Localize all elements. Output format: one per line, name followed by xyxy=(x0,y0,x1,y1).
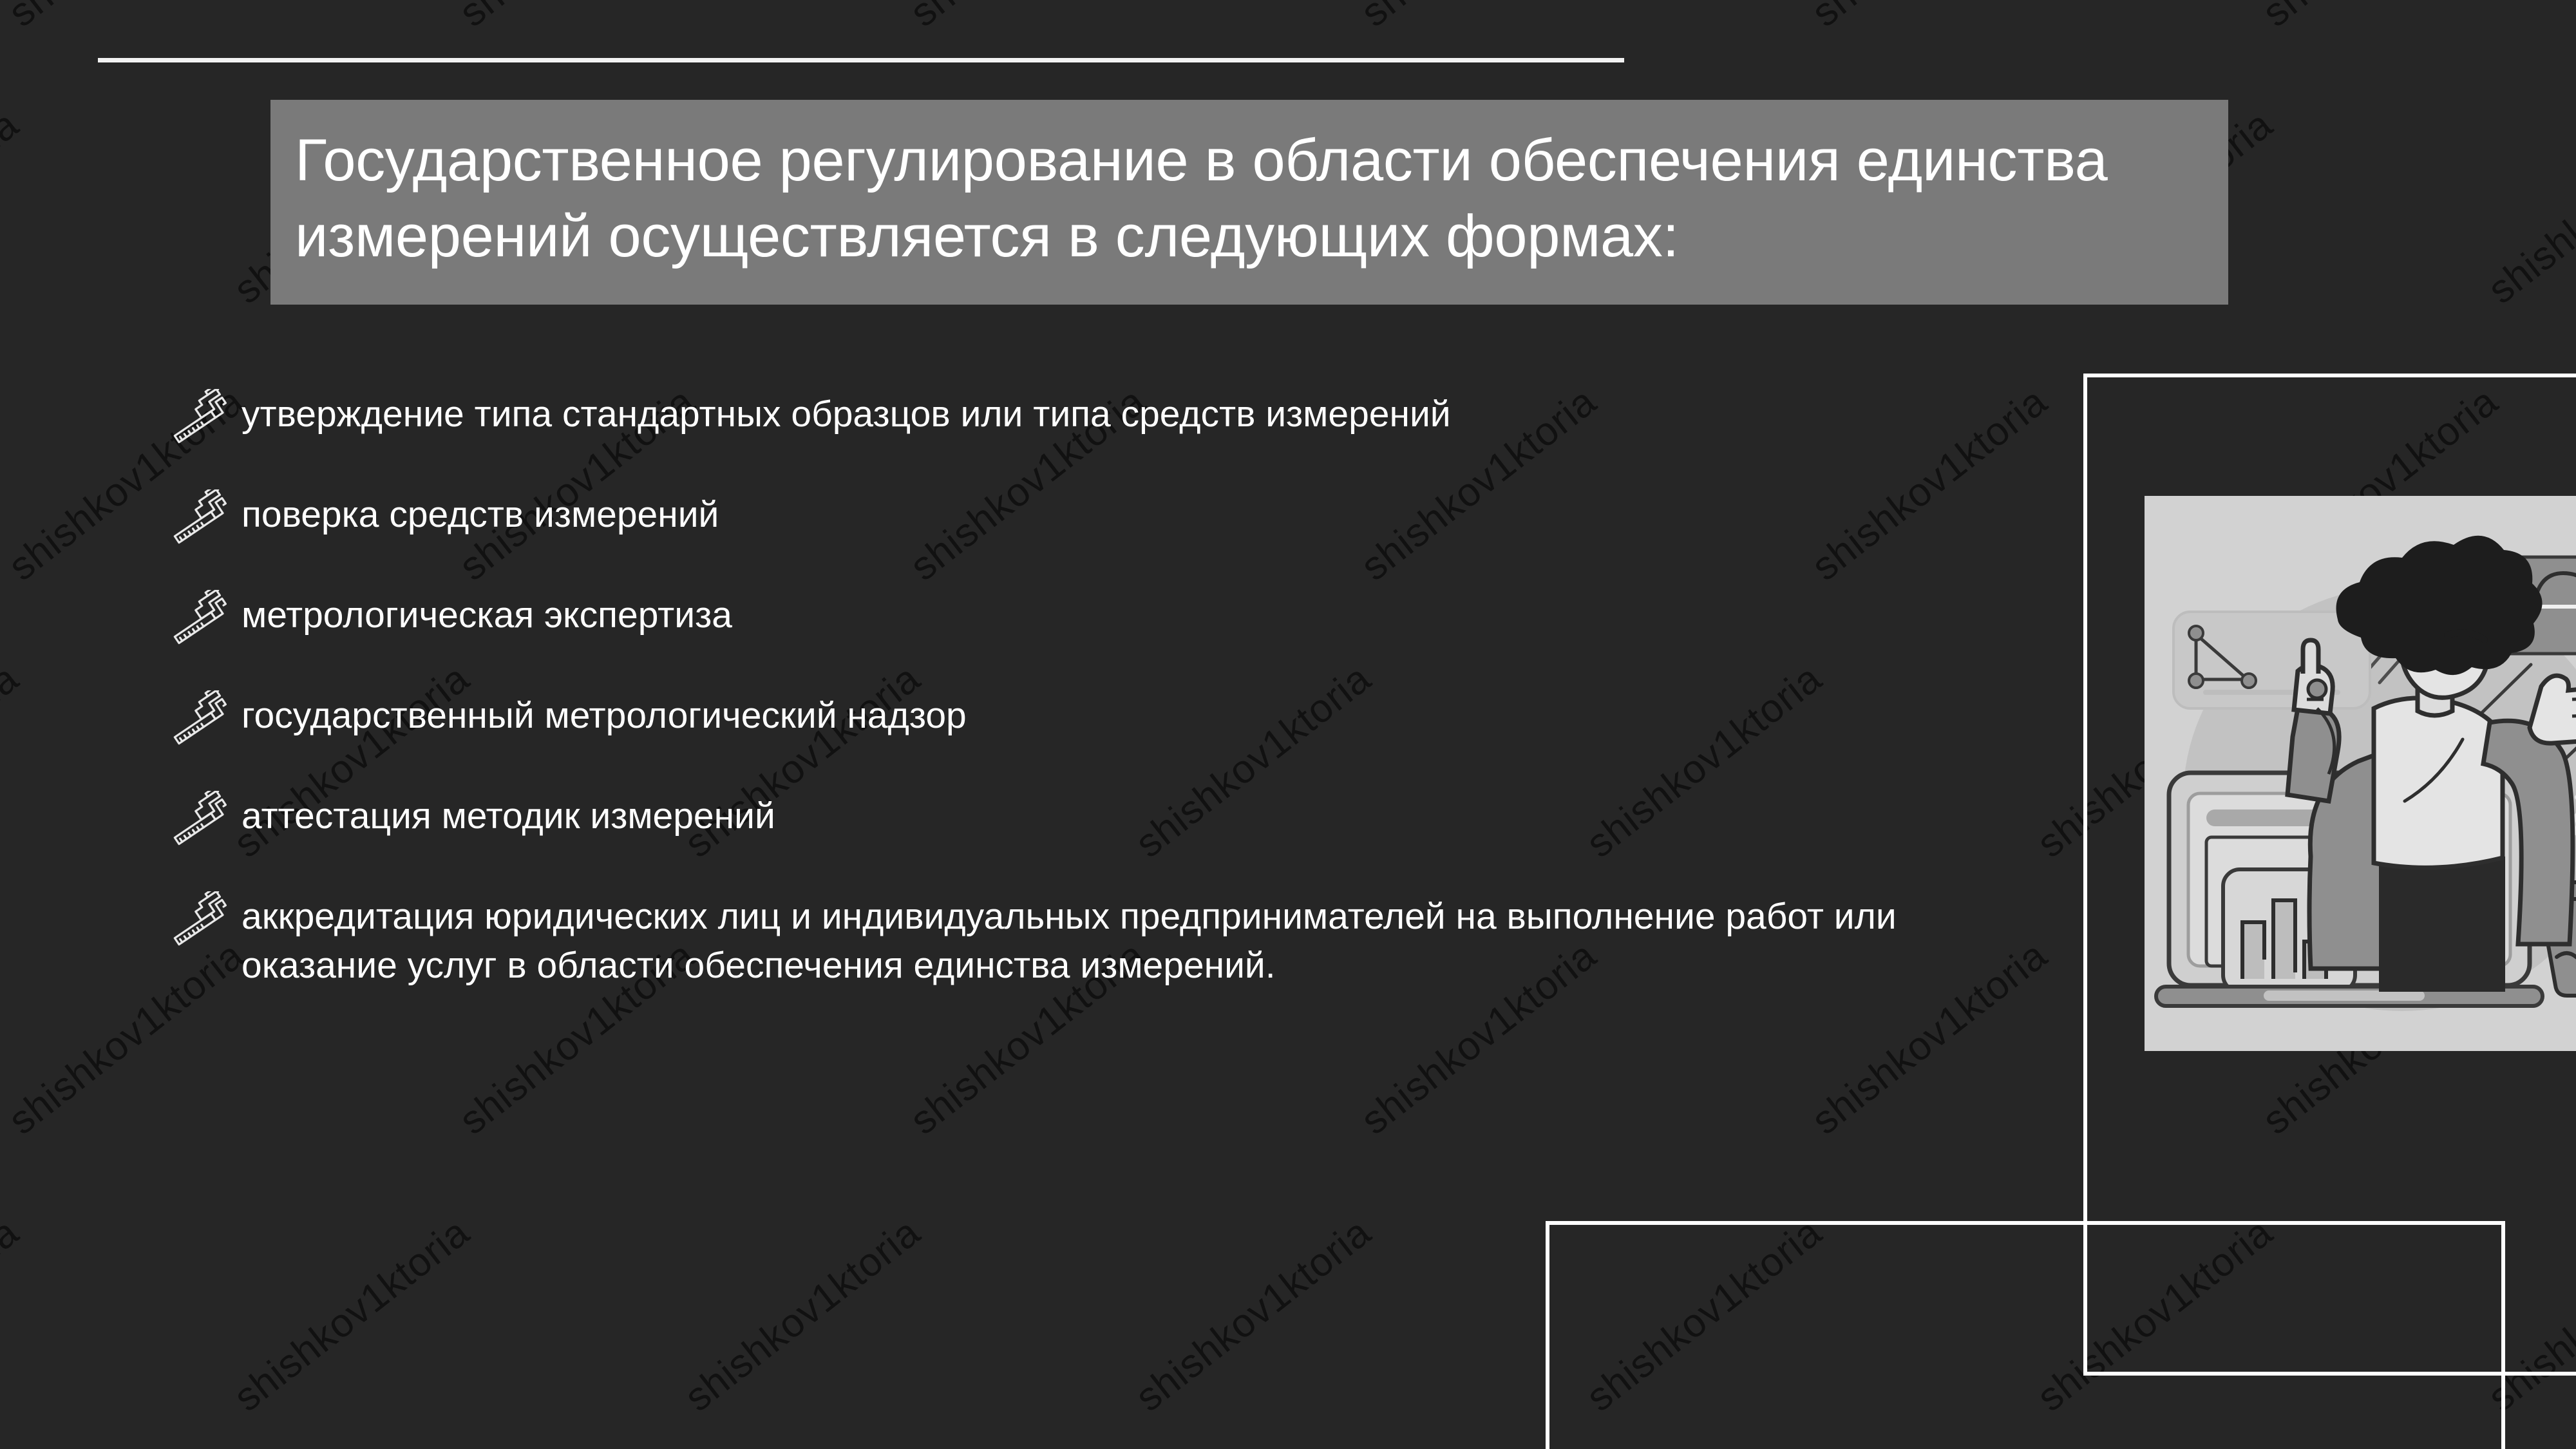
watermark-text: shishkov1ktoria xyxy=(451,0,703,36)
list-item: метрологическая экспертиза xyxy=(164,587,2070,649)
watermark-text: shishkov1ktoria xyxy=(1352,0,1605,36)
watermark-text: shishkov1ktoria xyxy=(0,102,27,313)
caliper-icon xyxy=(164,690,241,752)
list-item: аккредитация юридических лиц и индивидуа… xyxy=(164,889,2070,990)
list-item: поверка средств измерений xyxy=(164,487,2070,549)
list-item-label: аттестация методик измерений xyxy=(241,788,775,841)
watermark-text: shishkov1ktoria xyxy=(0,656,27,867)
caliper-icon xyxy=(164,891,241,953)
list-item: государственный метрологический надзор xyxy=(164,688,2070,750)
caliper-icon xyxy=(164,590,241,652)
watermark-text: shishkov1ktoria xyxy=(2479,102,2576,313)
list-item-label: аккредитация юридических лиц и индивидуа… xyxy=(241,889,2058,990)
watermark-text: shishkov1ktoria xyxy=(676,1209,929,1421)
watermark-text: shishkov1ktoria xyxy=(0,0,252,36)
list-item-label: утверждение типа стандартных образцов ил… xyxy=(241,386,1451,439)
decorative-frame-lower xyxy=(1546,1221,2505,1449)
woman-presenting-charts-illustration xyxy=(2145,496,2576,1051)
watermark-text: shishkov1ktoria xyxy=(902,0,1154,36)
list-item-label: государственный метрологический надзор xyxy=(241,688,967,741)
caliper-icon xyxy=(164,389,241,451)
watermark-text: shishkov1ktoria xyxy=(1803,0,2056,36)
bullet-list: утверждение типа стандартных образцов ил… xyxy=(164,386,2070,1029)
slide-canvas: shishkov1ktoriashishkov1ktoriashishkov1k… xyxy=(0,0,2576,1449)
top-divider-rule xyxy=(98,58,1624,62)
list-item: аттестация методик измерений xyxy=(164,788,2070,850)
watermark-text: shishkov1ktoria xyxy=(0,1209,27,1421)
watermark-text: shishkov1ktoria xyxy=(225,1209,478,1421)
watermark-text: shishkov1ktoria xyxy=(1127,1209,1379,1421)
slide-title-band: Государственное регулирование в области … xyxy=(270,100,2228,305)
page-title: Государственное регулирование в области … xyxy=(295,123,2210,275)
watermark-text: shishkov1ktoria xyxy=(2254,0,2506,36)
caliper-icon xyxy=(164,791,241,853)
list-item-label: метрологическая экспертиза xyxy=(241,587,732,640)
caliper-icon xyxy=(164,489,241,551)
list-item-label: поверка средств измерений xyxy=(241,487,719,540)
list-item: утверждение типа стандартных образцов ил… xyxy=(164,386,2070,448)
